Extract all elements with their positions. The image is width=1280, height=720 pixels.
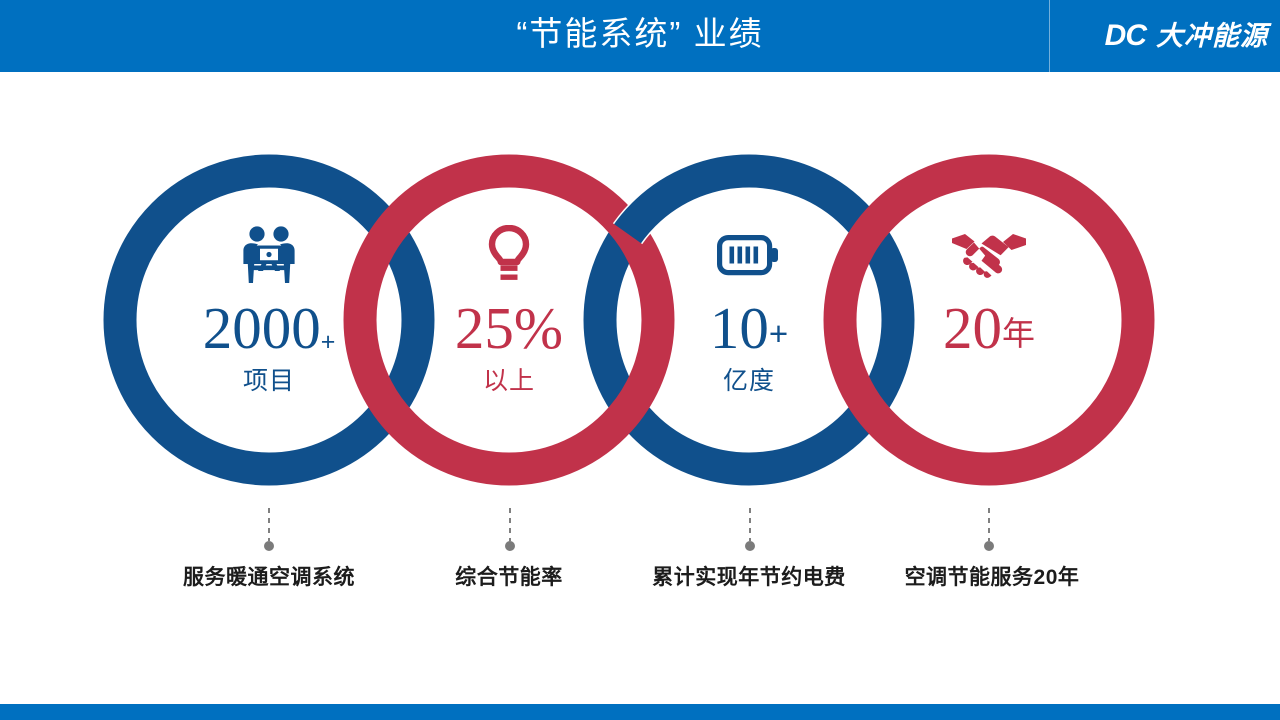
stat-card-energy-saving-rate[interactable]: 25% 以上	[394, 221, 624, 394]
slide-canvas: “节能系统” 业绩 DC 大冲能源	[0, 0, 1280, 720]
stat-suffix: +	[321, 328, 336, 356]
connector-dash	[988, 508, 990, 541]
handshake-icon	[874, 221, 1104, 285]
caption-energy-saving-rate[interactable]: 综合节能率	[389, 567, 629, 588]
connector-dash	[749, 508, 751, 541]
stat-value-projects: 2000+	[154, 299, 384, 358]
stat-number: 20	[943, 295, 1002, 361]
stat-value-electricity-saved: 10+	[634, 299, 864, 358]
stat-sublabel-projects: 项目	[154, 369, 384, 394]
footer-bar	[0, 704, 1280, 720]
stat-sublabel-energy-saving-rate: 以上	[394, 369, 624, 394]
header-bar: “节能系统” 业绩 DC 大冲能源	[0, 0, 1280, 72]
connector-dot	[745, 541, 755, 551]
header-divider	[1049, 0, 1050, 72]
connector-dash	[509, 508, 511, 541]
stat-card-years-of-service[interactable]: 20年	[874, 221, 1104, 369]
logo-mark-dc: DC	[1105, 21, 1147, 51]
connector-dot	[984, 541, 994, 551]
stat-value-years-of-service: 20年	[874, 299, 1104, 358]
stat-value-energy-saving-rate: 25%	[394, 299, 624, 358]
stat-sublabel-electricity-saved: 亿度	[634, 369, 864, 394]
caption-projects[interactable]: 服务暖通空调系统	[149, 567, 389, 588]
connector-dot	[264, 541, 274, 551]
stat-suffix: 年	[1002, 315, 1035, 352]
connector-dash	[268, 508, 270, 541]
stat-number: 2000	[203, 295, 321, 361]
connector-dot	[505, 541, 515, 551]
stat-card-electricity-saved[interactable]: 10+ 亿度	[634, 221, 864, 394]
battery-icon	[634, 221, 864, 285]
page-title: “节能系统” 业绩	[0, 0, 1280, 72]
logo-company-name: 大冲能源	[1156, 23, 1268, 50]
two-people-icon	[154, 221, 384, 285]
stat-number: 10	[710, 295, 769, 361]
stat-card-projects[interactable]: 2000+ 项目	[154, 221, 384, 394]
stat-number: 25%	[455, 295, 563, 361]
caption-years-of-service[interactable]: 空调节能服务20年	[872, 567, 1112, 588]
stat-suffix: +	[769, 315, 788, 352]
caption-electricity-saved[interactable]: 累计实现年节约电费	[629, 567, 869, 588]
lightbulb-icon	[394, 221, 624, 285]
company-logo: DC 大冲能源	[1105, 13, 1268, 59]
